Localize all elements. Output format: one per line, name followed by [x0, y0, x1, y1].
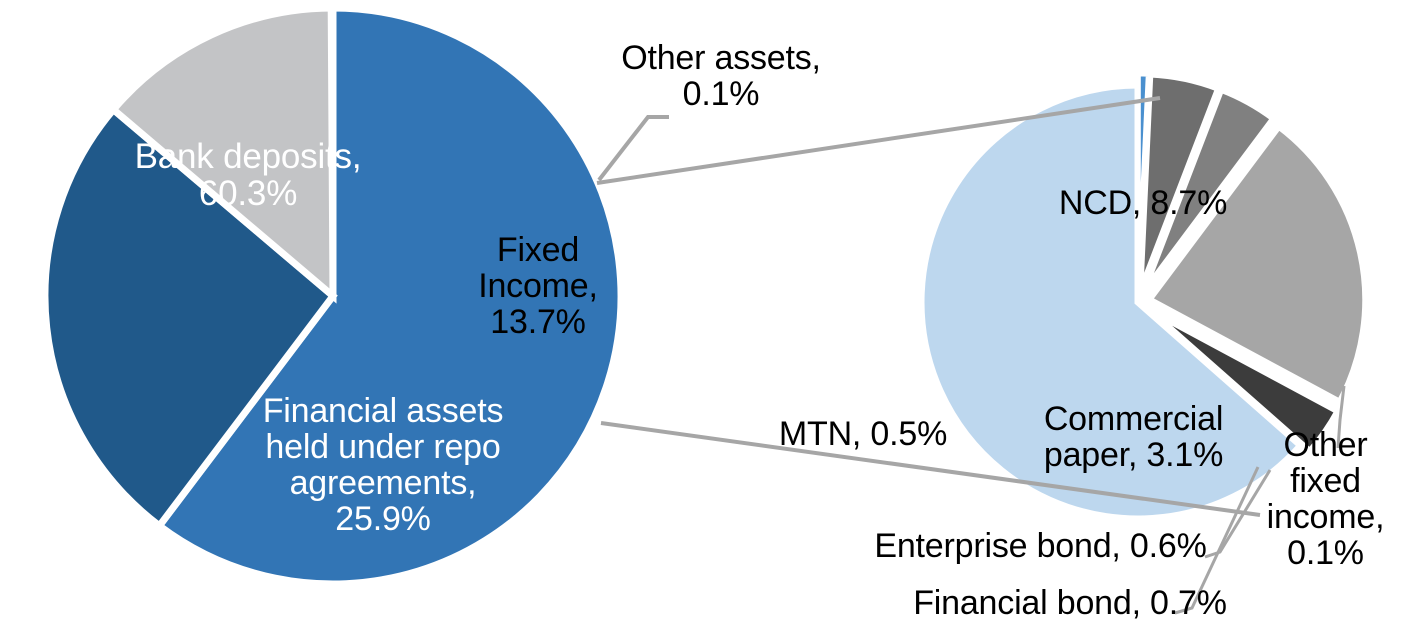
label-bank-deposits: Bank deposits, 60.3%	[108, 138, 388, 212]
label-ncd: NCD, 8.7%	[1038, 185, 1248, 221]
label-financial-bond: Financial bond, 0.7%	[905, 585, 1235, 621]
label-enterprise-bond: Enterprise bond, 0.6%	[873, 528, 1208, 564]
label-fixed-income: Fixed Income, 13.7%	[458, 232, 618, 340]
label-other-assets: Other assets, 0.1%	[596, 40, 846, 112]
label-other-fixed-income: Other fixed income, 0.1%	[1253, 427, 1398, 571]
figure-canvas: Bank deposits, 60.3% Fixed Income, 13.7%…	[0, 0, 1404, 644]
label-repo-agreements: Financial assets held under repo agreeme…	[238, 393, 528, 537]
leader-other-assets	[599, 117, 669, 180]
label-mtn: MTN, 0.5%	[768, 416, 958, 452]
label-commercial-paper: Commercial paper, 3.1%	[1026, 401, 1241, 473]
